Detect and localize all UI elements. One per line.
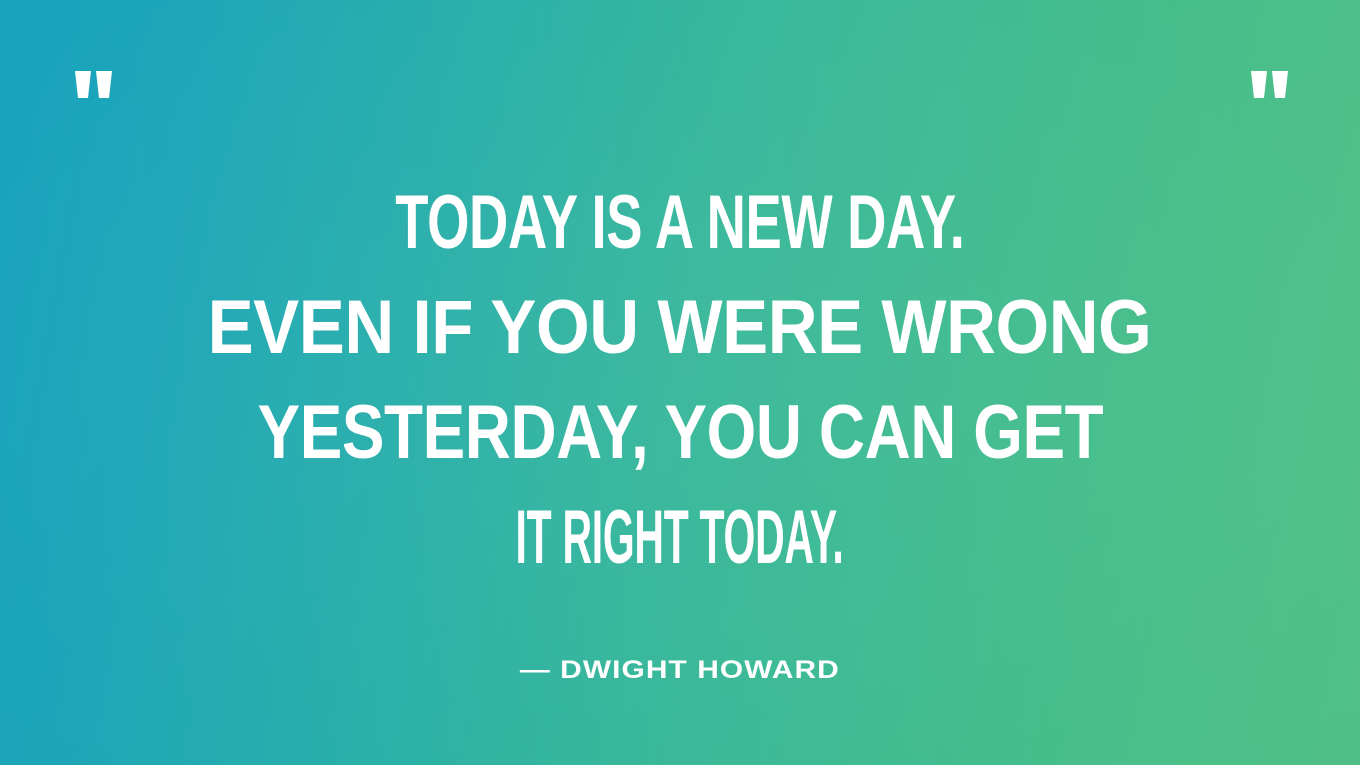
quote-line: TODAY IS A NEW DAY. (395, 170, 964, 275)
quote-text: TODAY IS A NEW DAY. EVEN IF YOU WERE WRO… (0, 170, 1360, 590)
quote-line: IT RIGHT TODAY. (516, 485, 844, 590)
quote-line: EVEN IF YOU WERE WRONG (208, 275, 1152, 380)
quote-attribution: — DWIGHT HOWARD (0, 653, 1360, 687)
quote-mark-icon (1251, 71, 1289, 98)
quote-mark-icon (75, 71, 113, 98)
quote-line: YESTERDAY, YOU CAN GET (257, 380, 1103, 485)
quote-card: TODAY IS A NEW DAY. EVEN IF YOU WERE WRO… (0, 0, 1360, 765)
